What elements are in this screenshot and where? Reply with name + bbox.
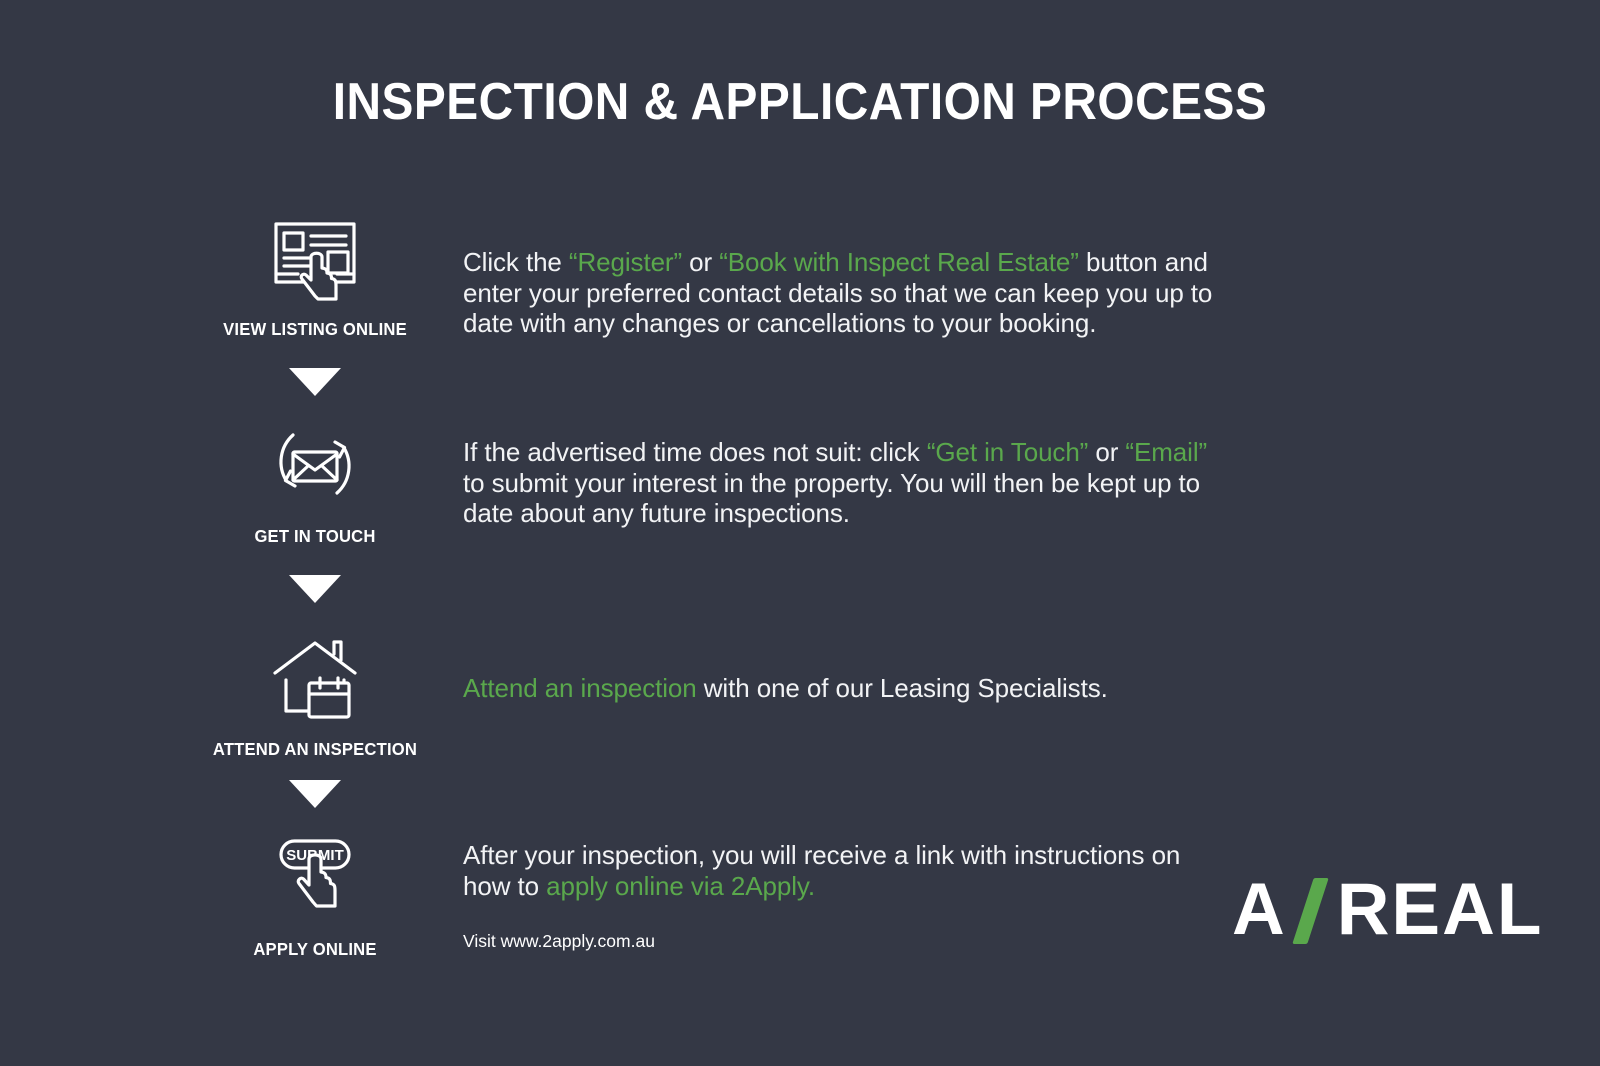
step-3-text-1: with one of our Leasing Specialists. (697, 673, 1108, 703)
step-3-icon-column: ATTEND AN INSPECTION (180, 625, 450, 760)
step-3-label: ATTEND AN INSPECTION (187, 739, 444, 760)
visit-url-note: Visit www.2apply.com.au (463, 931, 1223, 952)
step-4-text-1: apply online via 2Apply. (546, 871, 815, 901)
step-2-text-3: “Email” (1125, 437, 1207, 467)
step-1-text-3: “Book with Inspect Real Estate” (719, 247, 1079, 277)
envelope-refresh-icon (180, 412, 450, 516)
down-arrow-icon (289, 575, 341, 603)
infographic-page: INSPECTION & APPLICATION PROCESS (0, 0, 1600, 1066)
down-arrow-icon (289, 368, 341, 396)
step-2-text-0: If the advertised time does not suit: cl… (463, 437, 927, 467)
step-1-label: VIEW LISTING ONLINE (187, 319, 444, 340)
step-1-icon-column: VIEW LISTING ONLINE (180, 205, 450, 340)
step-2-icon-column: GET IN TOUCH (180, 412, 450, 547)
connector-arrow-2 (289, 575, 341, 603)
page-title: INSPECTION & APPLICATION PROCESS (64, 72, 1536, 132)
step-2-label: GET IN TOUCH (187, 526, 444, 547)
listing-page-cursor-icon (180, 205, 450, 309)
connector-arrow-1 (289, 368, 341, 396)
step-1-text-0: Click the (463, 247, 569, 277)
down-arrow-icon (289, 780, 341, 808)
step-2-description: If the advertised time does not suit: cl… (463, 437, 1223, 529)
step-1-text-1: “Register” (569, 247, 682, 277)
house-calendar-icon (180, 625, 450, 729)
step-1-description: Click the “Register” or “Book with Inspe… (463, 247, 1223, 339)
step-4-label: APPLY ONLINE (187, 939, 444, 960)
step-4-icon-column: SUBMIT APPLY ONLINE (180, 825, 450, 960)
slash-icon (1289, 872, 1335, 948)
submit-button-cursor-icon: SUBMIT (180, 825, 450, 929)
step-1-text-2: or (682, 247, 719, 277)
step-2-text-4: to submit your interest in the property.… (463, 468, 1200, 529)
step-4-text-block: After your inspection, you will receive … (463, 840, 1223, 901)
step-2-text-2: or (1088, 437, 1125, 467)
logo-word-real: REAL (1337, 872, 1544, 948)
areal-logo: A REAL (1232, 872, 1543, 948)
connector-arrow-3 (289, 780, 341, 808)
logo-letter-a: A (1232, 872, 1287, 948)
step-4-description: After your inspection, you will receive … (463, 840, 1223, 952)
step-3-text-0: Attend an inspection (463, 673, 697, 703)
step-3-description: Attend an inspection with one of our Lea… (463, 673, 1223, 704)
step-2-text-1: “Get in Touch” (927, 437, 1088, 467)
